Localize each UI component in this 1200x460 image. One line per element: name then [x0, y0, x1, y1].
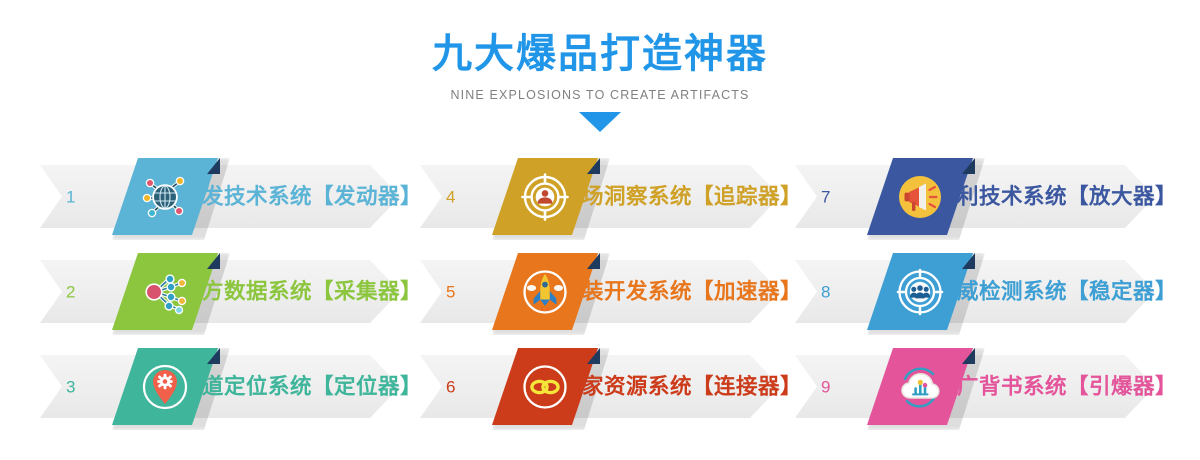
- list-item[interactable]: 2: [40, 260, 400, 323]
- item-label: 推广背书系统【引爆器】: [935, 376, 1177, 398]
- item-label: 研发技术系统【发动器】: [180, 186, 422, 208]
- page-subtitle: NINE EXPLOSIONS TO CREATE ARTIFACTS: [0, 88, 1200, 102]
- items-grid: 1: [0, 165, 1200, 435]
- item-number: 7: [821, 188, 830, 205]
- ribbon-fold: [962, 158, 975, 174]
- ribbon-fold: [962, 253, 975, 269]
- item-number: 3: [66, 378, 75, 395]
- item-number: 8: [821, 283, 830, 300]
- list-item[interactable]: 3: [40, 355, 400, 418]
- list-item[interactable]: 5: [420, 260, 780, 323]
- item-number: 1: [66, 188, 75, 205]
- item-number: 4: [446, 188, 455, 205]
- list-item[interactable]: 6 专家资源系统【连接器】: [420, 355, 780, 418]
- item-label: 包装开发系统【加速器】: [560, 281, 802, 303]
- list-item[interactable]: 8: [795, 260, 1155, 323]
- list-item[interactable]: 4: [420, 165, 780, 228]
- item-label: 市场洞察系统【追踪器】: [560, 186, 802, 208]
- triangle-down-icon: [579, 112, 621, 132]
- column-1: 1: [40, 165, 415, 435]
- item-label: 专利技术系统【放大器】: [935, 186, 1177, 208]
- ribbon-fold: [207, 253, 220, 269]
- item-number: 2: [66, 283, 75, 300]
- column-3: 7 专利技术系统【放大器】: [795, 165, 1170, 435]
- item-label: 专家资源系统【连接器】: [560, 376, 802, 398]
- column-2: 4: [420, 165, 795, 435]
- ribbon-fold: [207, 158, 220, 174]
- item-number: 9: [821, 378, 830, 395]
- item-number: 6: [446, 378, 455, 395]
- list-item[interactable]: 1: [40, 165, 400, 228]
- item-label: 权威检测系统【稳定器】: [935, 281, 1177, 303]
- item-number: 5: [446, 283, 455, 300]
- list-item[interactable]: 9: [795, 355, 1155, 418]
- ribbon-fold: [207, 348, 220, 364]
- ribbon-fold: [587, 348, 600, 364]
- header: 九大爆品打造神器 NINE EXPLOSIONS TO CREATE ARTIF…: [0, 0, 1200, 132]
- infographic-canvas: 九大爆品打造神器 NINE EXPLOSIONS TO CREATE ARTIF…: [0, 0, 1200, 460]
- page-title: 九大爆品打造神器: [0, 32, 1200, 76]
- item-label: 渠道定位系统【定位器】: [180, 376, 422, 398]
- ribbon-fold: [962, 348, 975, 364]
- ribbon-fold: [587, 253, 600, 269]
- item-label: 配方数据系统【采集器】: [180, 281, 422, 303]
- ribbon-fold: [587, 158, 600, 174]
- list-item[interactable]: 7 专利技术系统【放大器】: [795, 165, 1155, 228]
